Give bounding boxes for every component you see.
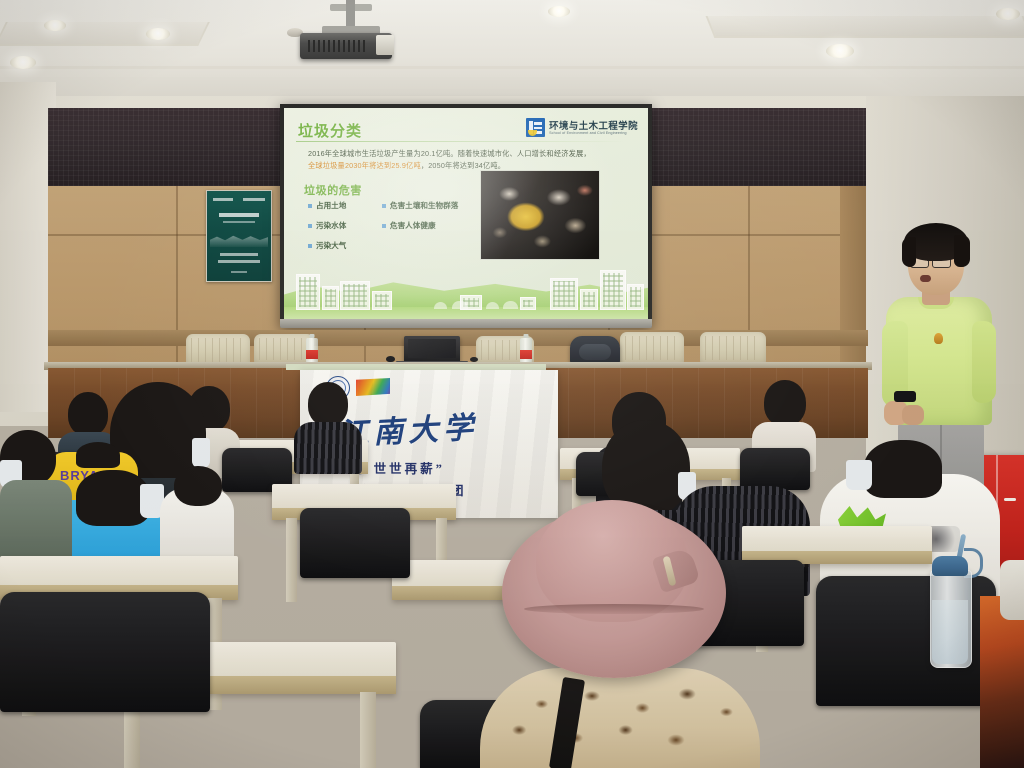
attendee-head: [76, 470, 150, 526]
attendee-foreground-right-arm: [1000, 560, 1024, 620]
attendee-foreground-right: [980, 596, 1024, 768]
slide-subtitle: 垃圾的危害: [304, 182, 362, 198]
leopard-print-blouse: [480, 668, 760, 768]
attendee-head: [308, 382, 348, 426]
bullet-marker-icon: [308, 224, 312, 228]
projected-slide: 垃圾分类 2016年全球城市生活垃圾产生量为20.1亿吨。随着快速城市化、人口增…: [284, 108, 648, 323]
downlight-3: [146, 28, 170, 40]
presenter-laptop[interactable]: [404, 336, 460, 363]
shirt-badge-icon: [934, 333, 943, 344]
lecture-hall-photo: 垃圾分类 2016年全球城市生活垃圾产生量为20.1亿吨。随着快速城市化、人口增…: [0, 0, 1024, 768]
sun-hat-band: [524, 604, 704, 614]
attendee-head: [864, 440, 942, 498]
downlight-2: [44, 20, 66, 31]
attendee-pink-hat-leopard: [480, 500, 760, 768]
bullet-text: 污染大气: [316, 240, 346, 251]
attendee-front-left-grey: [0, 430, 72, 560]
desk-leg: [286, 518, 297, 602]
slide-title: 垃圾分类: [298, 120, 362, 141]
chair-back-4: [740, 448, 810, 490]
projection-screen-frame: 垃圾分类 2016年全球城市生活垃圾产生量为20.1亿吨。随着快速城市化、人口增…: [280, 104, 652, 327]
wall-poster-green: [206, 190, 272, 282]
vip-chair-4: [620, 332, 684, 364]
bullet-text: 危害土壤和生物群落: [390, 200, 458, 211]
attendee-head: [764, 380, 806, 426]
chair-front-1: [300, 508, 410, 578]
slide-body-after: ，2050年将达到34亿吨。: [421, 161, 505, 170]
bullet-marker-icon: [308, 244, 312, 248]
vip-chair-2: [254, 334, 314, 364]
presenter-hair-side-left: [902, 237, 916, 267]
vip-chair-5: [700, 332, 766, 364]
slide-bullet-list: 占用土地 危害土壤和生物群落 污染水体 危害人体健康 污染大气: [308, 200, 488, 260]
bottle-water-level: [932, 600, 968, 664]
attendee-sleeve: [1000, 560, 1024, 620]
bullet-row: 污染水体 危害人体健康: [308, 220, 488, 231]
presenter-hair-side-right: [954, 235, 970, 267]
attendee-head: [174, 466, 222, 506]
school-name-en: School of Environment and Civil Engineer…: [549, 131, 638, 135]
bullet-row: 占用土地 危害土壤和生物群落: [308, 200, 488, 211]
presenter-right-arm: [972, 321, 996, 403]
attendee-torso: [294, 422, 362, 474]
slide-waste-photo: [480, 170, 600, 260]
desk-water-bottle-2[interactable]: [520, 338, 532, 364]
attendee-child-front-row: [292, 382, 362, 472]
slide-title-rule: [296, 141, 626, 142]
bullet-text: 污染水体: [316, 220, 346, 231]
wristwatch-icon: [894, 391, 916, 402]
desk-leg: [360, 692, 376, 768]
school-name-cn: 环境与土木工程学院: [549, 121, 638, 131]
projector-mount-pole: [346, 0, 355, 28]
ceiling-recess-left: [0, 22, 210, 46]
slide-body-before: 2016年全球城市生活垃圾产生量为20.1亿吨。随着快速城市化、人口增长和经济发…: [308, 149, 591, 158]
attendee-torso: [0, 480, 72, 564]
downlight-4: [548, 6, 570, 17]
bullet-text: 危害人体健康: [390, 220, 436, 231]
face-mask: [192, 438, 210, 468]
bullet-row: 污染大气: [308, 240, 488, 251]
bullet-text: 占用土地: [316, 200, 346, 211]
school-logo: 环境与土木工程学院 School of Environment and Civi…: [526, 118, 638, 137]
slide-body-highlight: 全球垃圾量2030年将达到25.9亿吨: [308, 161, 421, 170]
downlight-6: [996, 8, 1020, 20]
school-emblem-icon: [526, 118, 545, 137]
projector-lens: [376, 35, 394, 55]
bullet-marker-icon: [382, 204, 386, 208]
face-mask: [846, 460, 872, 490]
slide-city-skyline-graphic: [284, 267, 648, 323]
downlight-1: [10, 56, 36, 69]
bullet-marker-icon: [308, 204, 312, 208]
attendee-torso: [980, 596, 1024, 768]
projection-screen-bottom-bar: [280, 319, 652, 328]
ceiling-seam: [0, 66, 1024, 69]
chair-front-3: [0, 592, 210, 712]
attendee-head: [76, 442, 120, 468]
bottle-cap[interactable]: [932, 556, 968, 576]
presenter-mouth: [920, 275, 931, 282]
presenter-hand-right: [902, 405, 924, 425]
desk-water-bottle-1[interactable]: [306, 338, 318, 364]
desk-front-right: [742, 526, 932, 564]
bullet-marker-icon: [382, 224, 386, 228]
ceiling-recess-right: [706, 16, 1024, 38]
slide-body-text: 2016年全球城市生活垃圾产生量为20.1亿吨。随着快速城市化、人口增长和经济发…: [308, 148, 598, 172]
downlight-5: [826, 44, 854, 58]
